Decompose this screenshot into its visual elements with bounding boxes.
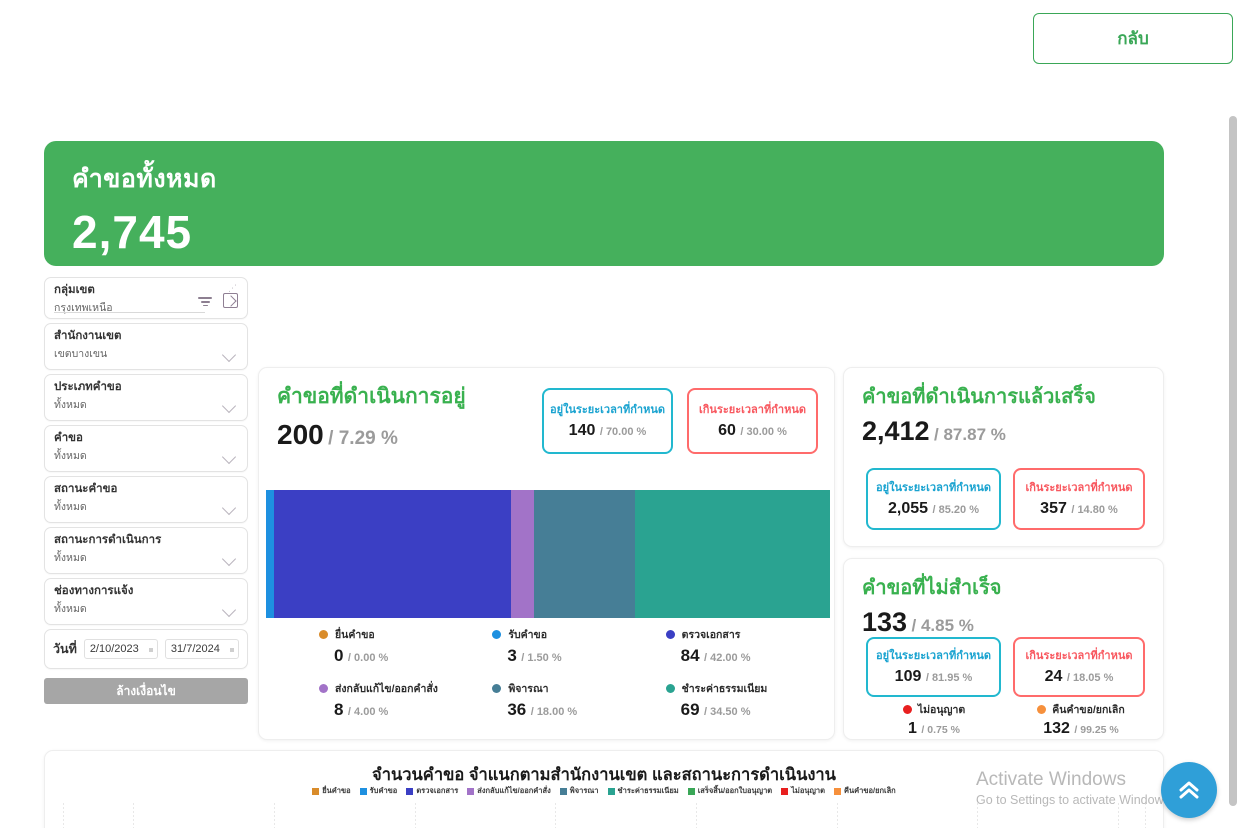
legend-value: 8 — [334, 700, 343, 719]
filter-request[interactable]: คำขอ ทั้งหมด — [44, 425, 248, 472]
legend-name: ตรวจเอกสาร — [682, 626, 741, 643]
date-range-label: วันที่ — [53, 639, 77, 659]
stack-segment[interactable] — [534, 490, 636, 618]
badge-value: 140 — [569, 422, 596, 439]
total-requests-card: คำขอทั้งหมด 2,745 — [44, 141, 1164, 266]
date-to-input[interactable]: 31/7/2024 — [165, 639, 239, 659]
filter-label: ประเภทคำขอ — [54, 380, 238, 395]
filter-label: คำขอ — [54, 431, 238, 446]
date-from-input[interactable]: 2/10/2023 — [84, 639, 158, 659]
chevron-down-icon[interactable] — [222, 452, 238, 462]
completed-header: คำขอที่ดำเนินการแล้วเสร็จ 2,412 / 87.87 … — [862, 380, 1096, 447]
in-progress-overdue-badge[interactable]: เกินระยะเวลาที่กำหนด 60 / 30.00 % — [687, 388, 818, 454]
legend-percent: / 42.00 % — [704, 652, 750, 664]
legend-dot-icon — [319, 630, 328, 639]
legend-item: พิจารณา36 / 18.00 % — [492, 680, 665, 720]
badge-label: อยู่ในระยะเวลาที่กำหนด — [876, 481, 991, 495]
legend-dot-icon — [492, 684, 501, 693]
legend-name: รับคำขอ — [508, 626, 547, 643]
completed-percent: / 87.87 % — [934, 425, 1006, 444]
legend-values: 36 / 18.00 % — [492, 700, 665, 720]
legend-swatch-icon — [560, 788, 567, 795]
legend-dot-icon — [903, 705, 912, 714]
page-scrollbar[interactable] — [1229, 116, 1237, 806]
legend-value: 84 — [681, 646, 700, 665]
legend-percent: / 0.75 % — [921, 724, 960, 736]
total-requests-value: 2,745 — [72, 205, 1164, 259]
legend-name: พิจารณา — [508, 680, 548, 697]
badge-label: เกินระยะเวลาที่กำหนด — [699, 403, 806, 417]
legend-item: รับคำขอ3 / 1.50 % — [492, 626, 665, 666]
chart-legend-item[interactable]: ชำระค่าธรรมเนียม — [608, 785, 679, 797]
chart-gridline — [63, 803, 64, 828]
chevron-down-icon[interactable] — [222, 554, 238, 564]
badge-values: 2,055 / 85.20 % — [888, 500, 979, 518]
chart-legend-item[interactable]: ตรวจเอกสาร — [406, 785, 458, 797]
badge-percent: / 85.20 % — [933, 504, 979, 516]
legend-value: 1 — [908, 720, 917, 737]
dashboard-page: กลับ คำขอทั้งหมด 2,745 กลุ่มเขต กรุงเทพเ… — [0, 0, 1241, 828]
watermark-line1: Activate Windows — [976, 768, 1170, 792]
legend-head: ชำระค่าธรรมเนียม — [666, 680, 839, 697]
legend-percent: / 34.50 % — [704, 706, 750, 718]
in-progress-panel: คำขอที่ดำเนินการอยู่ 200 / 7.29 % อยู่ใน… — [258, 367, 835, 740]
badge-label: เกินระยะเวลาที่กำหนด — [1026, 649, 1133, 663]
filter-label: สถานะคำขอ — [54, 482, 238, 497]
legend-dot-icon — [492, 630, 501, 639]
legend-swatch-icon — [312, 788, 319, 795]
filter-request-type[interactable]: ประเภทคำขอ ทั้งหมด — [44, 374, 248, 421]
scroll-to-top-button[interactable] — [1161, 762, 1217, 818]
legend-values: 0 / 0.00 % — [319, 646, 492, 666]
legend-dot-icon — [666, 684, 675, 693]
legend-head: คืนคำขอ/ยกเลิก — [1037, 701, 1124, 718]
stack-segment[interactable] — [274, 490, 511, 618]
filter-underline — [54, 312, 205, 313]
legend-item: ยื่นคำขอ0 / 0.00 % — [319, 626, 492, 666]
total-requests-title: คำขอทั้งหมด — [72, 159, 1164, 199]
chart-legend-item[interactable]: เสร็จสิ้น/ออกใบอนุญาต — [688, 785, 772, 797]
chart-gridline — [274, 803, 275, 828]
chevron-down-icon[interactable] — [222, 350, 238, 360]
double-chevron-up-icon — [1176, 777, 1202, 803]
chart-gridline — [555, 803, 556, 828]
back-button[interactable]: กลับ — [1033, 13, 1233, 64]
legend-percent: / 99.25 % — [1074, 724, 1118, 736]
in-progress-header: คำขอที่ดำเนินการอยู่ 200 / 7.29 % — [277, 380, 466, 451]
in-progress-legend: ยื่นคำขอ0 / 0.00 %รับคำขอ3 / 1.50 %ตรวจเ… — [319, 626, 839, 720]
legend-swatch-icon — [467, 788, 474, 795]
legend-name: ชำระค่าธรรมเนียม — [682, 680, 768, 697]
legend-values: 84 / 42.00 % — [666, 646, 839, 666]
chart-legend-item[interactable]: รับคำขอ — [360, 785, 398, 797]
badge-percent: / 14.80 % — [1071, 504, 1117, 516]
legend-head: ยื่นคำขอ — [319, 626, 492, 643]
chart-gridline — [696, 803, 697, 828]
legend-percent: / 1.50 % — [521, 652, 561, 664]
chart-gridline — [837, 803, 838, 828]
scroll-region: คำขอทั้งหมด 2,745 กลุ่มเขต กรุงเทพเหนือ … — [0, 88, 1241, 828]
legend-swatch-icon — [360, 788, 367, 795]
failed-legend-returned: คืนคำขอ/ยกเลิก 132 / 99.25 % — [1016, 701, 1146, 738]
completed-value: 2,412 — [862, 416, 930, 446]
badge-values: 60 / 30.00 % — [718, 422, 787, 440]
badge-value: 109 — [895, 668, 922, 685]
in-progress-percent: / 7.29 % — [328, 428, 398, 449]
legend-value: 3 — [507, 646, 516, 665]
badge-label: อยู่ในระยะเวลาที่กำหนด — [550, 403, 665, 417]
filter-label: สถานะการดำเนินการ — [54, 533, 238, 548]
legend-head: ส่งกลับแก้ไข/ออกคำสั่ง — [319, 680, 492, 697]
legend-percent: / 4.00 % — [348, 706, 388, 718]
legend-values: 3 / 1.50 % — [492, 646, 665, 666]
in-progress-value: 200 — [277, 419, 324, 450]
status-stacked-bar[interactable] — [266, 490, 830, 618]
legend-head: รับคำขอ — [492, 626, 665, 643]
in-progress-title: คำขอที่ดำเนินการอยู่ — [277, 380, 466, 413]
legend-name: พิจารณา — [570, 785, 599, 797]
legend-name: ไม่อนุญาต — [918, 701, 965, 718]
filter-value: เขตบางเขน — [54, 344, 107, 362]
filter-notify-channel[interactable]: ช่องทางการแจ้ง ทั้งหมด — [44, 578, 248, 625]
legend-name: ส่งกลับแก้ไข/ออกคำสั่ง — [477, 785, 551, 797]
badge-percent: / 81.95 % — [926, 672, 972, 684]
legend-name: ชำระค่าธรรมเนียม — [618, 785, 679, 797]
legend-dot-icon — [319, 684, 328, 693]
legend-name: ส่งกลับแก้ไข/ออกคำสั่ง — [335, 680, 438, 697]
legend-item: ตรวจเอกสาร84 / 42.00 % — [666, 626, 839, 666]
legend-dot-icon — [1037, 705, 1046, 714]
failed-ontime-badge[interactable]: อยู่ในระยะเวลาที่กำหนด 109 / 81.95 % — [866, 637, 1001, 697]
windows-activation-watermark: Activate Windows Go to Settings to activ… — [976, 768, 1170, 809]
chevron-down-icon[interactable] — [222, 401, 238, 411]
badge-value: 2,055 — [888, 500, 928, 517]
filter-request-status[interactable]: สถานะคำขอ ทั้งหมด — [44, 476, 248, 523]
chart-legend-item[interactable]: ไม่อนุญาต — [781, 785, 825, 797]
legend-head: ไม่อนุญาต — [903, 701, 965, 718]
filter-operation-status[interactable]: สถานะการดำเนินการ ทั้งหมด — [44, 527, 248, 574]
legend-name: ยื่นคำขอ — [335, 626, 375, 643]
stack-segment[interactable] — [635, 490, 830, 618]
legend-head: ตรวจเอกสาร — [666, 626, 839, 643]
chart-gridline — [133, 803, 134, 828]
filter-value: ทั้งหมด — [54, 548, 87, 566]
legend-values: 69 / 34.50 % — [666, 700, 839, 720]
completed-overdue-badge[interactable]: เกินระยะเวลาที่กำหนด 357 / 14.80 % — [1013, 468, 1145, 530]
legend-name: คืนคำขอ/ยกเลิก — [844, 785, 896, 797]
badge-values: 109 / 81.95 % — [895, 668, 973, 686]
stack-segment[interactable] — [511, 490, 534, 618]
failed-legend-denied: ไม่อนุญาต 1 / 0.75 % — [874, 701, 994, 738]
chevron-down-icon[interactable] — [222, 605, 238, 615]
legend-name: ตรวจเอกสาร — [416, 785, 458, 797]
failed-title: คำขอที่ไม่สำเร็จ — [862, 571, 1001, 603]
legend-values: 1 / 0.75 % — [908, 720, 960, 738]
legend-name: ยื่นคำขอ — [322, 785, 350, 797]
badge-values: 140 / 70.00 % — [569, 422, 647, 440]
chart-gridline — [415, 803, 416, 828]
filter-date-range[interactable]: วันที่ 2/10/2023 31/7/2024 — [44, 629, 248, 669]
badge-values: 357 / 14.80 % — [1040, 500, 1118, 518]
legend-percent: / 18.00 % — [531, 706, 577, 718]
legend-percent: / 0.00 % — [348, 652, 388, 664]
clear-filters-button[interactable]: ล้างเงื่อนไข — [44, 678, 248, 704]
top-bar: กลับ — [0, 0, 1241, 88]
badge-label: เกินระยะเวลาที่กำหนด — [1026, 481, 1133, 495]
legend-name: เสร็จสิ้น/ออกใบอนุญาต — [698, 785, 772, 797]
legend-value: 69 — [681, 700, 700, 719]
badge-percent: / 30.00 % — [740, 426, 786, 438]
legend-swatch-icon — [688, 788, 695, 795]
watermark-line2: Go to Settings to activate Windows — [976, 792, 1170, 809]
chevron-down-icon[interactable] — [222, 503, 238, 513]
failed-header: คำขอที่ไม่สำเร็จ 133 / 4.85 % — [862, 571, 1001, 638]
legend-value: 36 — [507, 700, 526, 719]
filter-label: ช่องทางการแจ้ง — [54, 584, 238, 599]
legend-value: 132 — [1043, 720, 1070, 737]
legend-name: คืนคำขอ/ยกเลิก — [1052, 701, 1124, 718]
badge-value: 357 — [1040, 500, 1067, 517]
filter-value: ทั้งหมด — [54, 446, 87, 464]
legend-swatch-icon — [608, 788, 615, 795]
badge-percent: / 18.05 % — [1067, 672, 1113, 684]
completed-ontime-badge[interactable]: อยู่ในระยะเวลาที่กำหนด 2,055 / 85.20 % — [866, 468, 1001, 530]
funnel-icon[interactable] — [197, 295, 213, 308]
legend-swatch-icon — [834, 788, 841, 795]
filter-value: ทั้งหมด — [54, 599, 87, 617]
filter-office[interactable]: สำนักงานเขต เขตบางเขน — [44, 323, 248, 370]
filter-label: สำนักงานเขต — [54, 329, 238, 344]
badge-value: 60 — [718, 422, 736, 439]
chart-legend-item[interactable]: ส่งกลับแก้ไข/ออกคำสั่ง — [467, 785, 551, 797]
focus-mode-icon[interactable] — [223, 293, 238, 308]
failed-overdue-badge[interactable]: เกินระยะเวลาที่กำหนด 24 / 18.05 % — [1013, 637, 1145, 697]
chart-legend-item[interactable]: พิจารณา — [560, 785, 599, 797]
chart-legend-item[interactable]: ยื่นคำขอ — [312, 785, 350, 797]
legend-item: ชำระค่าธรรมเนียม69 / 34.50 % — [666, 680, 839, 720]
stack-segment[interactable] — [266, 490, 274, 618]
legend-name: ไม่อนุญาต — [791, 785, 825, 797]
failed-value: 133 — [862, 607, 907, 637]
filter-group-district[interactable]: กลุ่มเขต กรุงเทพเหนือ ⋰ — [44, 277, 248, 319]
legend-value: 0 — [334, 646, 343, 665]
scrollbar-thumb[interactable] — [1229, 116, 1237, 806]
legend-dot-icon — [666, 630, 675, 639]
completed-title: คำขอที่ดำเนินการแล้วเสร็จ — [862, 380, 1096, 412]
failed-panel: คำขอที่ไม่สำเร็จ 133 / 4.85 % อยู่ในระยะ… — [843, 558, 1164, 740]
legend-swatch-icon — [406, 788, 413, 795]
badge-label: อยู่ในระยะเวลาที่กำหนด — [876, 649, 991, 663]
badge-values: 24 / 18.05 % — [1045, 668, 1114, 686]
in-progress-ontime-badge[interactable]: อยู่ในระยะเวลาที่กำหนด 140 / 70.00 % — [542, 388, 673, 454]
legend-item: ส่งกลับแก้ไข/ออกคำสั่ง8 / 4.00 % — [319, 680, 492, 720]
filter-value: ทั้งหมด — [54, 497, 87, 515]
badge-value: 24 — [1045, 668, 1063, 685]
filters-sidebar: กลุ่มเขต กรุงเทพเหนือ ⋰ สำนักงานเขต เขตบ… — [44, 277, 248, 704]
legend-values: 8 / 4.00 % — [319, 700, 492, 720]
filter-value: ทั้งหมด — [54, 395, 87, 413]
chart-legend-item[interactable]: คืนคำขอ/ยกเลิก — [834, 785, 896, 797]
legend-swatch-icon — [781, 788, 788, 795]
legend-head: พิจารณา — [492, 680, 665, 697]
legend-name: รับคำขอ — [370, 785, 398, 797]
legend-values: 132 / 99.25 % — [1043, 720, 1119, 738]
failed-percent: / 4.85 % — [912, 616, 974, 635]
completed-panel: คำขอที่ดำเนินการแล้วเสร็จ 2,412 / 87.87 … — [843, 367, 1164, 547]
badge-percent: / 70.00 % — [600, 426, 646, 438]
